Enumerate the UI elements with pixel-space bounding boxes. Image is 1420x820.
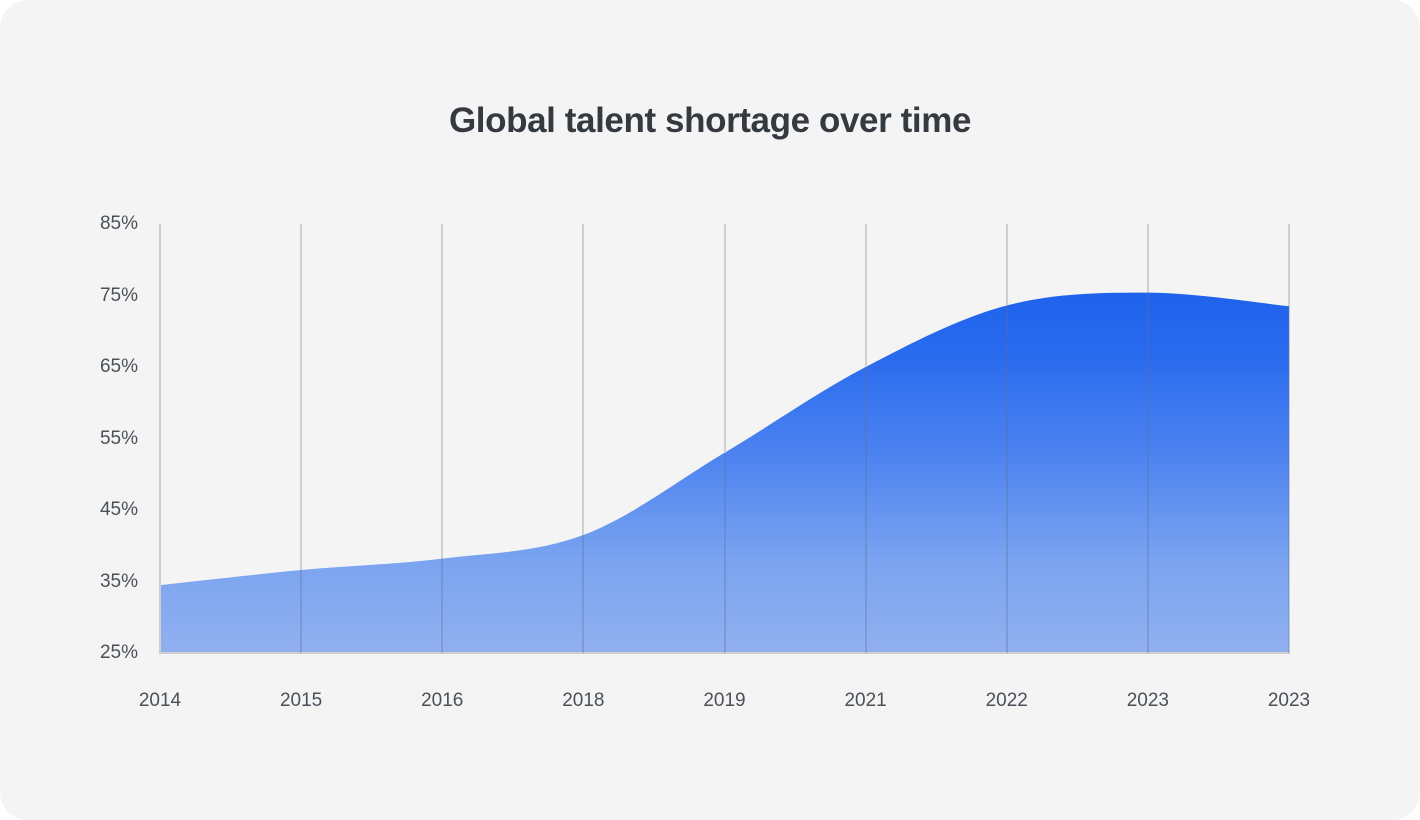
x-axis-tick-label: 2015 <box>280 690 322 712</box>
y-axis-tick-label: 75% <box>100 285 138 307</box>
x-axis-tick-label: 2019 <box>703 690 745 712</box>
x-axis-tick-label: 2016 <box>421 690 463 712</box>
y-axis-tick-label: 85% <box>100 213 138 235</box>
x-axis-tick-label: 2014 <box>139 690 181 712</box>
y-axis-tick-label: 55% <box>100 428 138 450</box>
gridline <box>1288 224 1290 653</box>
gridline <box>724 224 726 653</box>
y-axis-tick-label: 45% <box>100 499 138 521</box>
gridline <box>582 224 584 653</box>
gridline <box>300 224 302 653</box>
chart-card: Global talent shortage over time 85%75%6… <box>0 0 1420 820</box>
y-axis-tick-label: 65% <box>100 356 138 378</box>
x-axis-tick-label: 2023 <box>1268 690 1310 712</box>
gridline <box>1006 224 1008 653</box>
x-axis-tick-label: 2023 <box>1127 690 1169 712</box>
x-axis-tick-label: 2021 <box>844 690 886 712</box>
x-axis-tick-label: 2018 <box>562 690 604 712</box>
page-title: Global talent shortage over time <box>0 101 1420 141</box>
y-axis-tick-label: 35% <box>100 571 138 593</box>
x-axis-tick-label: 2022 <box>986 690 1028 712</box>
gridline <box>865 224 867 653</box>
gridline <box>441 224 443 653</box>
gridline <box>1147 224 1149 653</box>
y-axis-tick-label: 25% <box>100 642 138 664</box>
y-axis-line <box>159 224 161 654</box>
